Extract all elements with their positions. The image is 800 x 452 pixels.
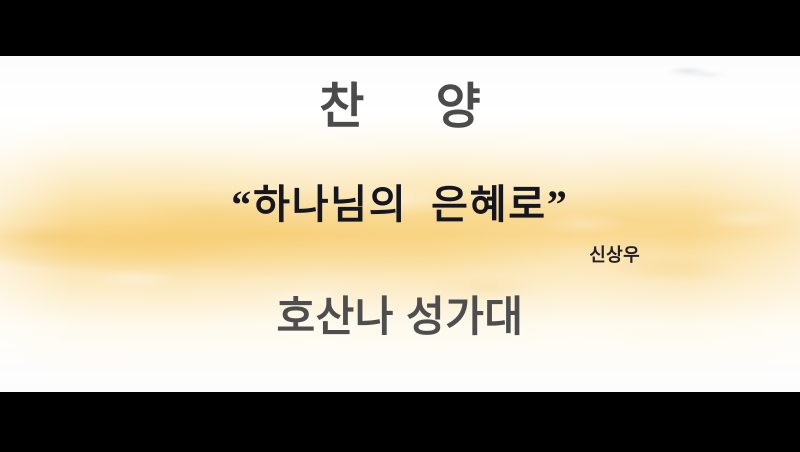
song-title: “하나님의 은혜로” [0,183,800,228]
page-title: 찬 양 [0,82,800,133]
composer-credit: 신상우 [0,246,640,266]
title-slide: 찬 양 “하나님의 은혜로” 신상우 호산나 성가대 [0,56,800,392]
letterbox-bar-bottom [0,392,800,452]
video-frame: 찬 양 “하나님의 은혜로” 신상우 호산나 성가대 [0,0,800,452]
letterbox-bar-top [0,0,800,56]
slide-text-layer: 찬 양 “하나님의 은혜로” 신상우 호산나 성가대 [0,56,800,392]
choir-name: 호산나 성가대 [0,294,800,340]
